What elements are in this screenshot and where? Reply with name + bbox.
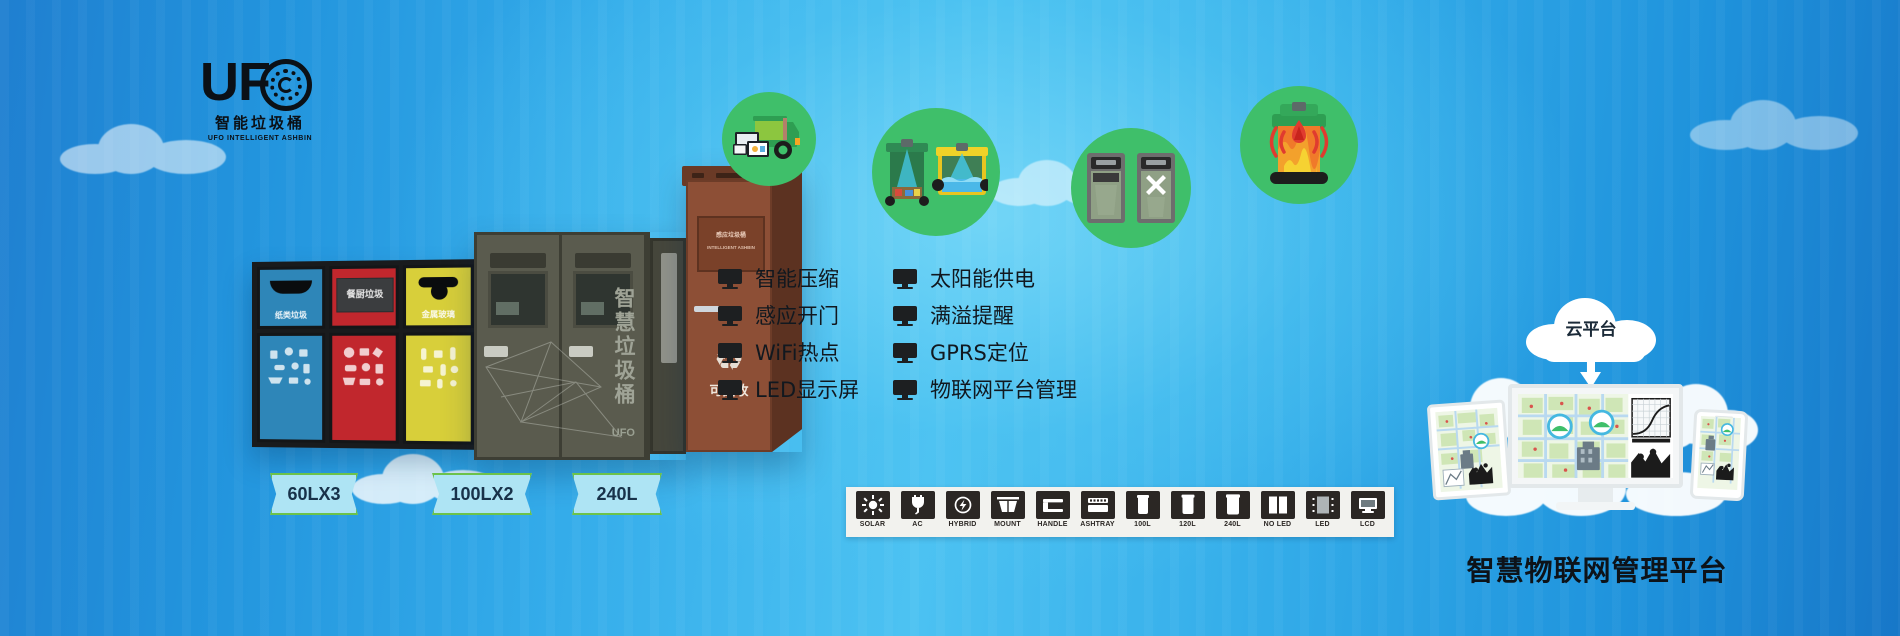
brand-logo: UF 智能垃圾桶 UFO INTELLIGENT ASHBIN bbox=[200, 55, 320, 150]
garbage-truck-icon bbox=[733, 110, 805, 168]
feature-item: 太阳能供电 bbox=[893, 262, 1077, 295]
monitor-icon bbox=[893, 269, 919, 289]
compartment-top-metal-glass: 金属玻璃 bbox=[403, 264, 474, 328]
capacity-badge-100lx2: 100LX2 bbox=[432, 473, 532, 515]
compartment-body-metal-glass bbox=[403, 332, 474, 444]
door-handle[interactable] bbox=[569, 346, 594, 357]
capacity-badge-240l: 240L bbox=[572, 473, 662, 515]
wall-mount-icon bbox=[991, 491, 1025, 519]
monitor-bezel bbox=[1508, 384, 1683, 488]
option-100l[interactable]: 100L bbox=[1122, 491, 1163, 533]
option-label: AC bbox=[897, 519, 938, 530]
compartment-label: 金属玻璃 bbox=[406, 310, 471, 321]
bin-100l-icon bbox=[1126, 491, 1160, 519]
option-120l[interactable]: 120L bbox=[1167, 491, 1208, 533]
map-view bbox=[1435, 408, 1502, 491]
option-no-led[interactable]: NO LED bbox=[1257, 491, 1298, 533]
dashboard-view bbox=[1518, 394, 1673, 478]
map-view bbox=[1698, 416, 1741, 484]
waste-pictogram bbox=[332, 336, 395, 399]
compactor-bins-icon bbox=[1083, 149, 1179, 227]
compartment-top-kitchen: 餐厨垃圾 bbox=[329, 265, 399, 328]
feature-label: 太阳能供电 bbox=[930, 267, 1035, 291]
feature-item: LED显示屏 bbox=[718, 373, 859, 406]
lcd-screen-icon bbox=[1351, 491, 1385, 519]
monitor-icon bbox=[893, 306, 919, 326]
feature-column-right: 太阳能供电 满溢提醒 GPRS定位 物联网平台管理 bbox=[893, 262, 1077, 410]
feature-label: 满溢提醒 bbox=[930, 304, 1014, 328]
feature-column-left: 智能压缩 感应开门 WiFi热点 LED显示屏 bbox=[718, 262, 859, 410]
product-bin-3-compartment[interactable]: 纸类垃圾 bbox=[252, 262, 474, 447]
feature-item: WiFi热点 bbox=[718, 336, 859, 369]
compartment-plate: 餐厨垃圾 bbox=[337, 277, 394, 312]
scenario-circle-fire-alarm[interactable] bbox=[1240, 86, 1358, 204]
device-desktop-monitor[interactable] bbox=[1508, 384, 1683, 516]
bin-side-panel bbox=[650, 238, 686, 454]
bin-240l-icon bbox=[1216, 491, 1250, 519]
scenario-circle-fill-level[interactable] bbox=[872, 108, 1000, 236]
capacity-badge-60lx3: 60LX3 bbox=[270, 473, 358, 515]
handle-icon bbox=[1036, 491, 1070, 519]
option-label: 240L bbox=[1212, 519, 1253, 530]
bin-compartment: 餐厨垃圾 bbox=[329, 265, 399, 444]
bin-front: 智慧垃圾桶 UFO bbox=[474, 232, 650, 460]
compartment-body-kitchen bbox=[329, 333, 399, 444]
bin-vertical-text: 智慧垃圾桶 bbox=[615, 287, 637, 407]
option-240l[interactable]: 240L bbox=[1212, 491, 1253, 533]
monitor-icon bbox=[718, 343, 744, 363]
option-label: HANDLE bbox=[1032, 519, 1073, 530]
cap-vent bbox=[692, 173, 704, 178]
bin-brand-badge: UFO bbox=[612, 428, 635, 439]
scenario-circle-fleet-monitoring[interactable] bbox=[722, 92, 816, 186]
plug-icon bbox=[901, 491, 935, 519]
device-smartphone[interactable] bbox=[1690, 409, 1749, 502]
option-label: MOUNT bbox=[987, 519, 1028, 530]
scenario-circle-compaction[interactable] bbox=[1071, 128, 1191, 248]
no-led-icon bbox=[1261, 491, 1295, 519]
feature-label: LED显示屏 bbox=[755, 378, 859, 402]
feature-label: 物联网平台管理 bbox=[930, 378, 1077, 402]
bin-level-sensor-icon bbox=[884, 135, 988, 209]
monitor-icon bbox=[893, 380, 919, 400]
led-panel-icon bbox=[1306, 491, 1340, 519]
option-led[interactable]: LED bbox=[1302, 491, 1343, 533]
drop-slot-round bbox=[430, 283, 447, 300]
panel-en-text: INTELLIGENT ASHBIN bbox=[699, 244, 763, 251]
waste-pictogram bbox=[260, 336, 322, 399]
door-window bbox=[488, 271, 549, 329]
feature-item: 满溢提醒 bbox=[893, 299, 1077, 332]
monitor-icon bbox=[893, 343, 919, 363]
cloud-decoration bbox=[1690, 96, 1860, 154]
compartment-label: 纸类垃圾 bbox=[260, 311, 322, 321]
bin-door-left[interactable] bbox=[477, 235, 562, 457]
bin-compartment: 纸类垃圾 bbox=[257, 266, 325, 443]
bin-handle[interactable] bbox=[694, 306, 720, 312]
option-label: LCD bbox=[1347, 519, 1388, 530]
option-mount[interactable]: MOUNT bbox=[987, 491, 1028, 533]
cloud-platform-label: 云平台 bbox=[1526, 321, 1656, 340]
ashtray-icon bbox=[1081, 491, 1115, 519]
compartment-label: 餐厨垃圾 bbox=[338, 279, 393, 312]
door-header-strip bbox=[490, 253, 546, 269]
monitor-icon bbox=[718, 380, 744, 400]
iot-platform-illustration: 云平台 bbox=[1430, 298, 1760, 548]
option-label: NO LED bbox=[1257, 519, 1298, 530]
platform-title: 智慧物联网管理平台 bbox=[1392, 555, 1802, 587]
drop-slot bbox=[270, 281, 312, 294]
compartment-body-paper bbox=[257, 333, 325, 443]
banner-canvas: UF 智能垃圾桶 UFO INTELLIGENT ASHBIN 纸类垃圾 bbox=[0, 0, 1900, 636]
bin-body: 纸类垃圾 bbox=[252, 259, 479, 450]
option-ashtray[interactable]: ASHTRAY bbox=[1077, 491, 1118, 533]
panel-cn-text: 感应垃圾桶 bbox=[699, 232, 763, 240]
monitor-screen bbox=[1518, 394, 1673, 478]
monitor-stand bbox=[1556, 502, 1635, 510]
feature-item: GPRS定位 bbox=[893, 336, 1077, 369]
logo-en-name: UFO INTELLIGENT ASHBIN bbox=[198, 134, 322, 143]
cloud-platform-tag: 云平台 bbox=[1526, 298, 1656, 362]
bin-fire-alarm-icon bbox=[1254, 102, 1344, 188]
option-lcd[interactable]: LCD bbox=[1347, 491, 1388, 533]
tablet-screen bbox=[1435, 408, 1502, 492]
feature-item: 感应开门 bbox=[718, 299, 859, 332]
down-arrow-icon bbox=[1580, 354, 1602, 388]
product-bin-smart-double[interactable]: 智慧垃圾桶 UFO bbox=[474, 232, 686, 460]
option-label: LED bbox=[1302, 519, 1343, 530]
bin-compartment: 金属玻璃 bbox=[403, 264, 474, 444]
bin-120l-icon bbox=[1171, 491, 1205, 519]
option-hybrid[interactable]: HYBRID bbox=[942, 491, 983, 533]
option-label: HYBRID bbox=[942, 519, 983, 530]
device-tablet[interactable] bbox=[1427, 399, 1512, 500]
option-label: SOLAR bbox=[852, 519, 893, 530]
option-ac[interactable]: AC bbox=[897, 491, 938, 533]
option-label: ASHTRAY bbox=[1077, 519, 1118, 530]
compartment-top-paper: 纸类垃圾 bbox=[257, 266, 325, 329]
feature-item: 智能压缩 bbox=[718, 262, 859, 295]
side-glass bbox=[661, 253, 677, 363]
monitor-icon bbox=[718, 269, 744, 289]
option-handle[interactable]: HANDLE bbox=[1032, 491, 1073, 533]
feature-label: 智能压缩 bbox=[755, 267, 839, 291]
feature-label: WiFi热点 bbox=[755, 341, 840, 365]
waste-pictogram bbox=[406, 335, 471, 399]
option-solar[interactable]: SOLAR bbox=[852, 491, 893, 533]
option-label: 120L bbox=[1167, 519, 1208, 530]
door-header-strip bbox=[575, 253, 631, 269]
option-label: 100L bbox=[1122, 519, 1163, 530]
feature-label: GPRS定位 bbox=[930, 341, 1029, 365]
feature-item: 物联网平台管理 bbox=[893, 373, 1077, 406]
ufo-ring-icon bbox=[260, 59, 312, 111]
sun-icon bbox=[856, 491, 890, 519]
monitor-icon bbox=[718, 306, 744, 326]
option-icon-strip: SOLAR AC HYBRID MOUNT bbox=[846, 487, 1394, 537]
feature-label: 感应开门 bbox=[755, 304, 839, 328]
phone-screen bbox=[1697, 416, 1741, 490]
logo-cn-name: 智能垃圾桶 bbox=[198, 115, 322, 132]
hybrid-bolt-icon bbox=[946, 491, 980, 519]
